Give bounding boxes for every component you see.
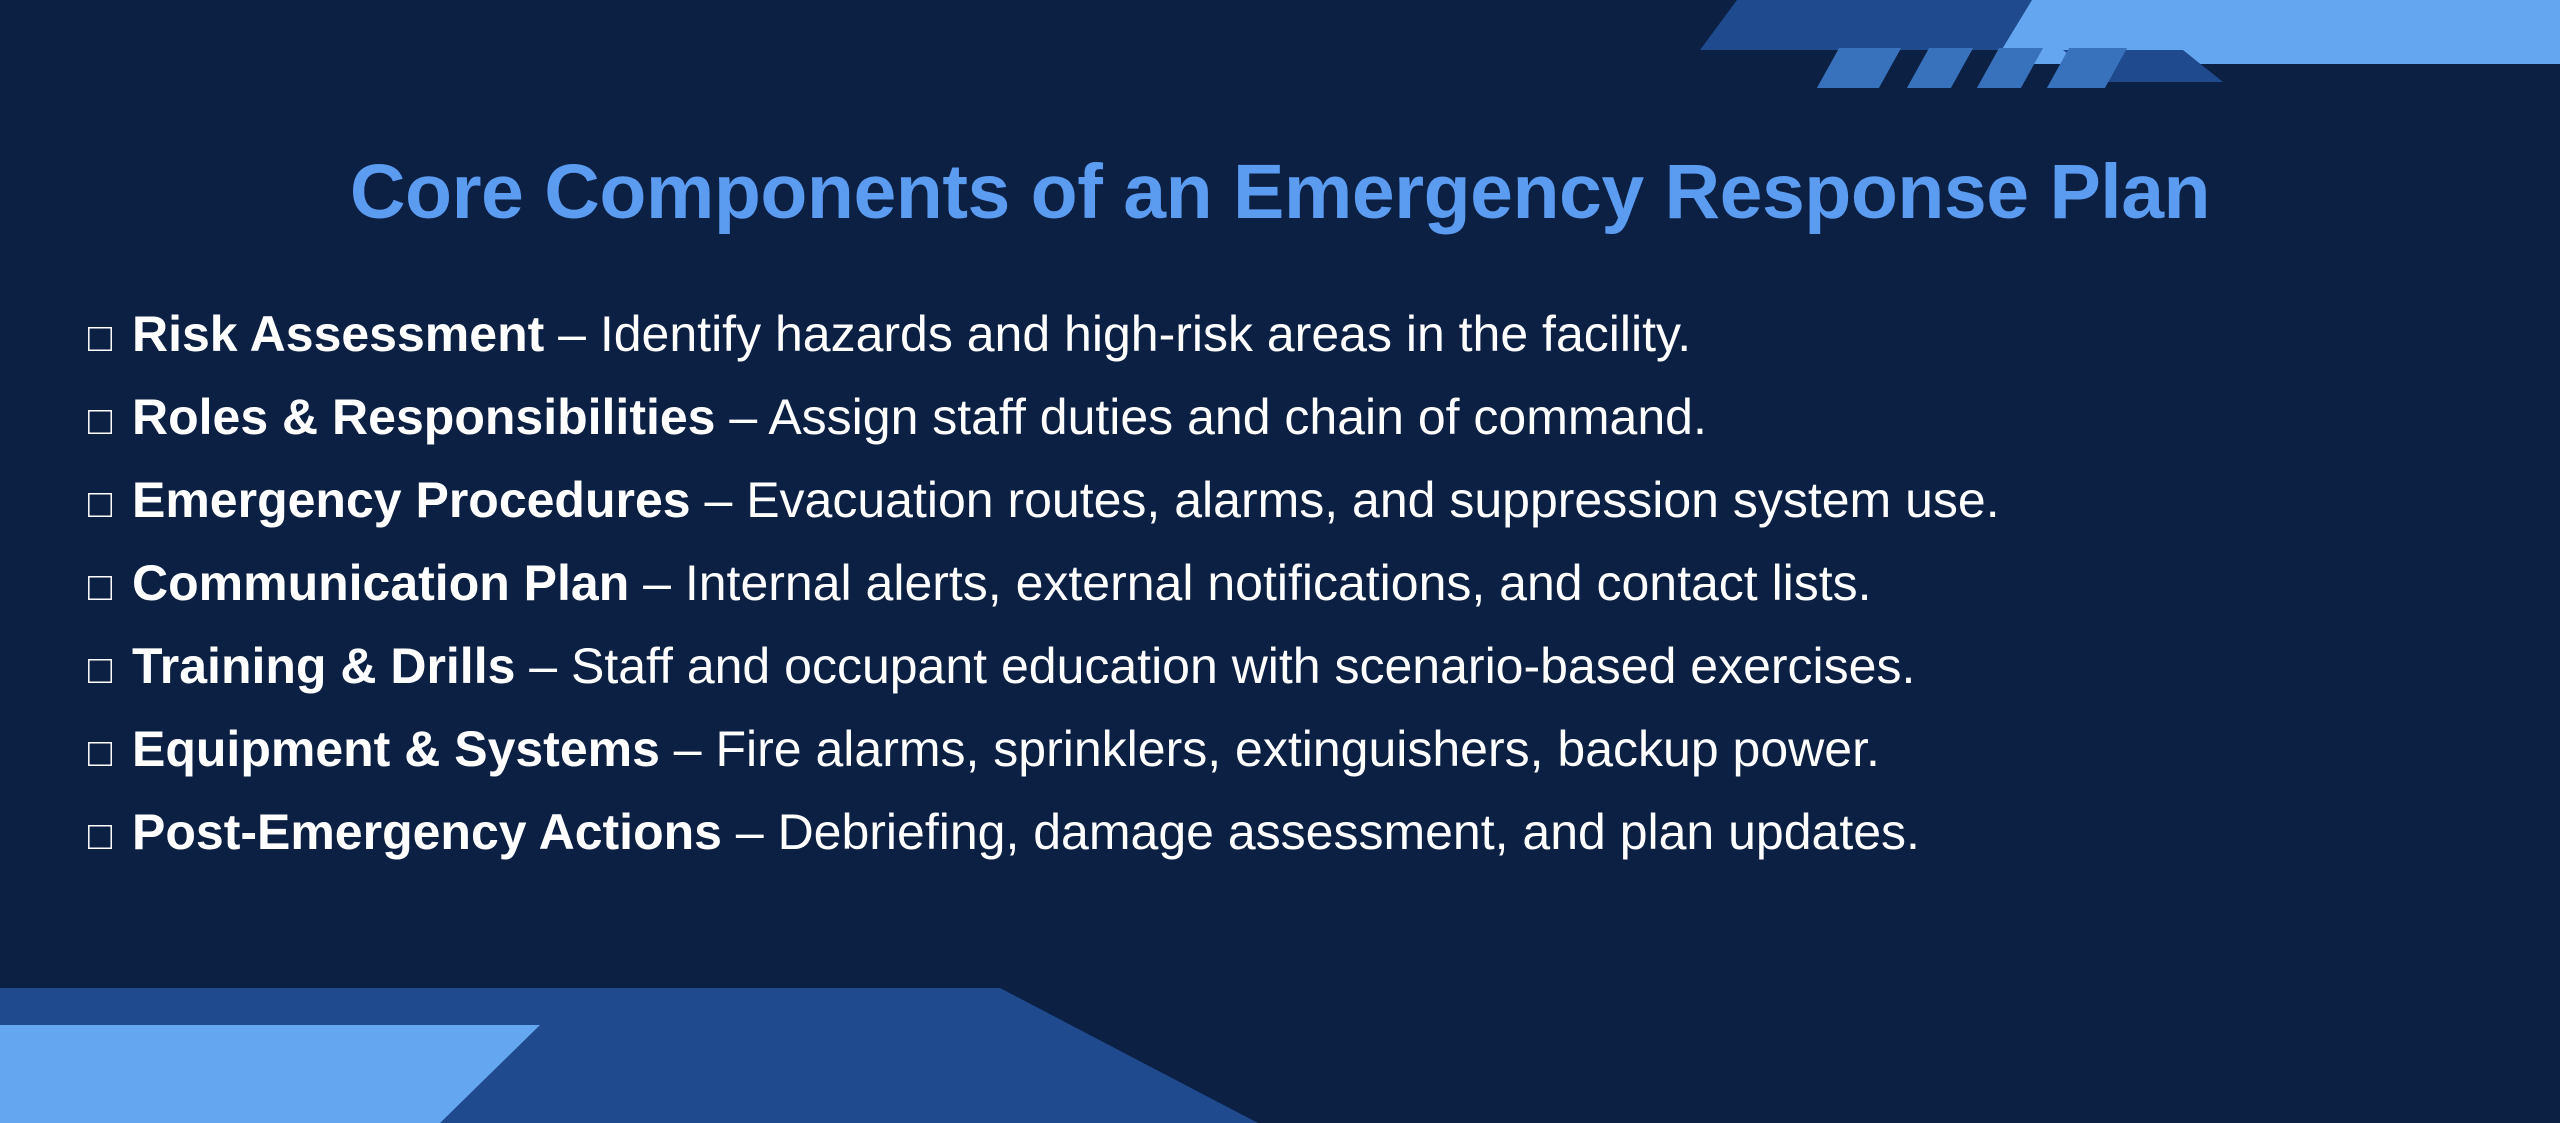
list-item-label: Training & Drills	[132, 638, 515, 694]
diagonal-stripe	[1977, 48, 2043, 88]
list-item-description: Staff and occupant education with scenar…	[571, 638, 1915, 694]
diagonal-stripe	[2047, 48, 2127, 88]
list-item-description: Assign staff duties and chain of command…	[768, 389, 1707, 445]
list-item-dash: –	[629, 555, 685, 611]
list-item-content: Equipment & Systems – Fire alarms, sprin…	[132, 720, 1880, 778]
list-item: □ Training & Drills – Staff and occupant…	[88, 637, 2508, 720]
list-item-content: Emergency Procedures – Evacuation routes…	[132, 471, 2000, 529]
list-item-description: Evacuation routes, alarms, and suppressi…	[746, 472, 1999, 528]
list-item: □ Roles & Responsibilities – Assign staf…	[88, 388, 2508, 471]
list-item-dash: –	[722, 804, 778, 860]
list-item-content: Risk Assessment – Identify hazards and h…	[132, 305, 1691, 363]
list-item: □ Equipment & Systems – Fire alarms, spr…	[88, 720, 2508, 803]
list-item-content: Roles & Responsibilities – Assign staff …	[132, 388, 1707, 446]
square-bullet-icon: □	[88, 401, 132, 441]
list-item-label: Communication Plan	[132, 555, 629, 611]
list-item-dash: –	[544, 306, 600, 362]
list-item: □ Post-Emergency Actions – Debriefing, d…	[88, 803, 2508, 886]
list-item-dash: –	[691, 472, 747, 528]
list-item-dash: –	[660, 721, 716, 777]
list-item: □ Emergency Procedures – Evacuation rout…	[88, 471, 2508, 554]
list-item-description: Identify hazards and high-risk areas in …	[600, 306, 1691, 362]
square-bullet-icon: □	[88, 484, 132, 524]
list-item-label: Equipment & Systems	[132, 721, 660, 777]
square-bullet-icon: □	[88, 650, 132, 690]
list-item-label: Post-Emergency Actions	[132, 804, 722, 860]
list-item-label: Risk Assessment	[132, 306, 544, 362]
square-bullet-icon: □	[88, 816, 132, 856]
list-item: □ Risk Assessment – Identify hazards and…	[88, 305, 2508, 388]
list-item: □ Communication Plan – Internal alerts, …	[88, 554, 2508, 637]
list-item-description: Fire alarms, sprinklers, extinguishers, …	[716, 721, 1880, 777]
list-item-label: Roles & Responsibilities	[132, 389, 715, 445]
list-item-content: Communication Plan – Internal alerts, ex…	[132, 554, 1872, 612]
square-bullet-icon: □	[88, 567, 132, 607]
list-item-content: Post-Emergency Actions – Debriefing, dam…	[132, 803, 1920, 861]
presentation-slide: Core Components of an Emergency Response…	[0, 0, 2560, 1123]
list-item-content: Training & Drills – Staff and occupant e…	[132, 637, 1915, 695]
list-item-dash: –	[515, 638, 571, 694]
square-bullet-icon: □	[88, 318, 132, 358]
top-right-diagonal-stripes-decoration	[1816, 48, 2246, 88]
core-components-list: □ Risk Assessment – Identify hazards and…	[88, 305, 2508, 886]
diagonal-stripe	[1907, 48, 1973, 88]
diagonal-stripe	[1817, 48, 1901, 88]
list-item-description: Debriefing, damage assessment, and plan …	[778, 804, 1920, 860]
list-item-dash: –	[715, 389, 768, 445]
list-item-description: Internal alerts, external notifications,…	[685, 555, 1872, 611]
page-title: Core Components of an Emergency Response…	[0, 148, 2560, 237]
square-bullet-icon: □	[88, 733, 132, 773]
list-item-label: Emergency Procedures	[132, 472, 691, 528]
